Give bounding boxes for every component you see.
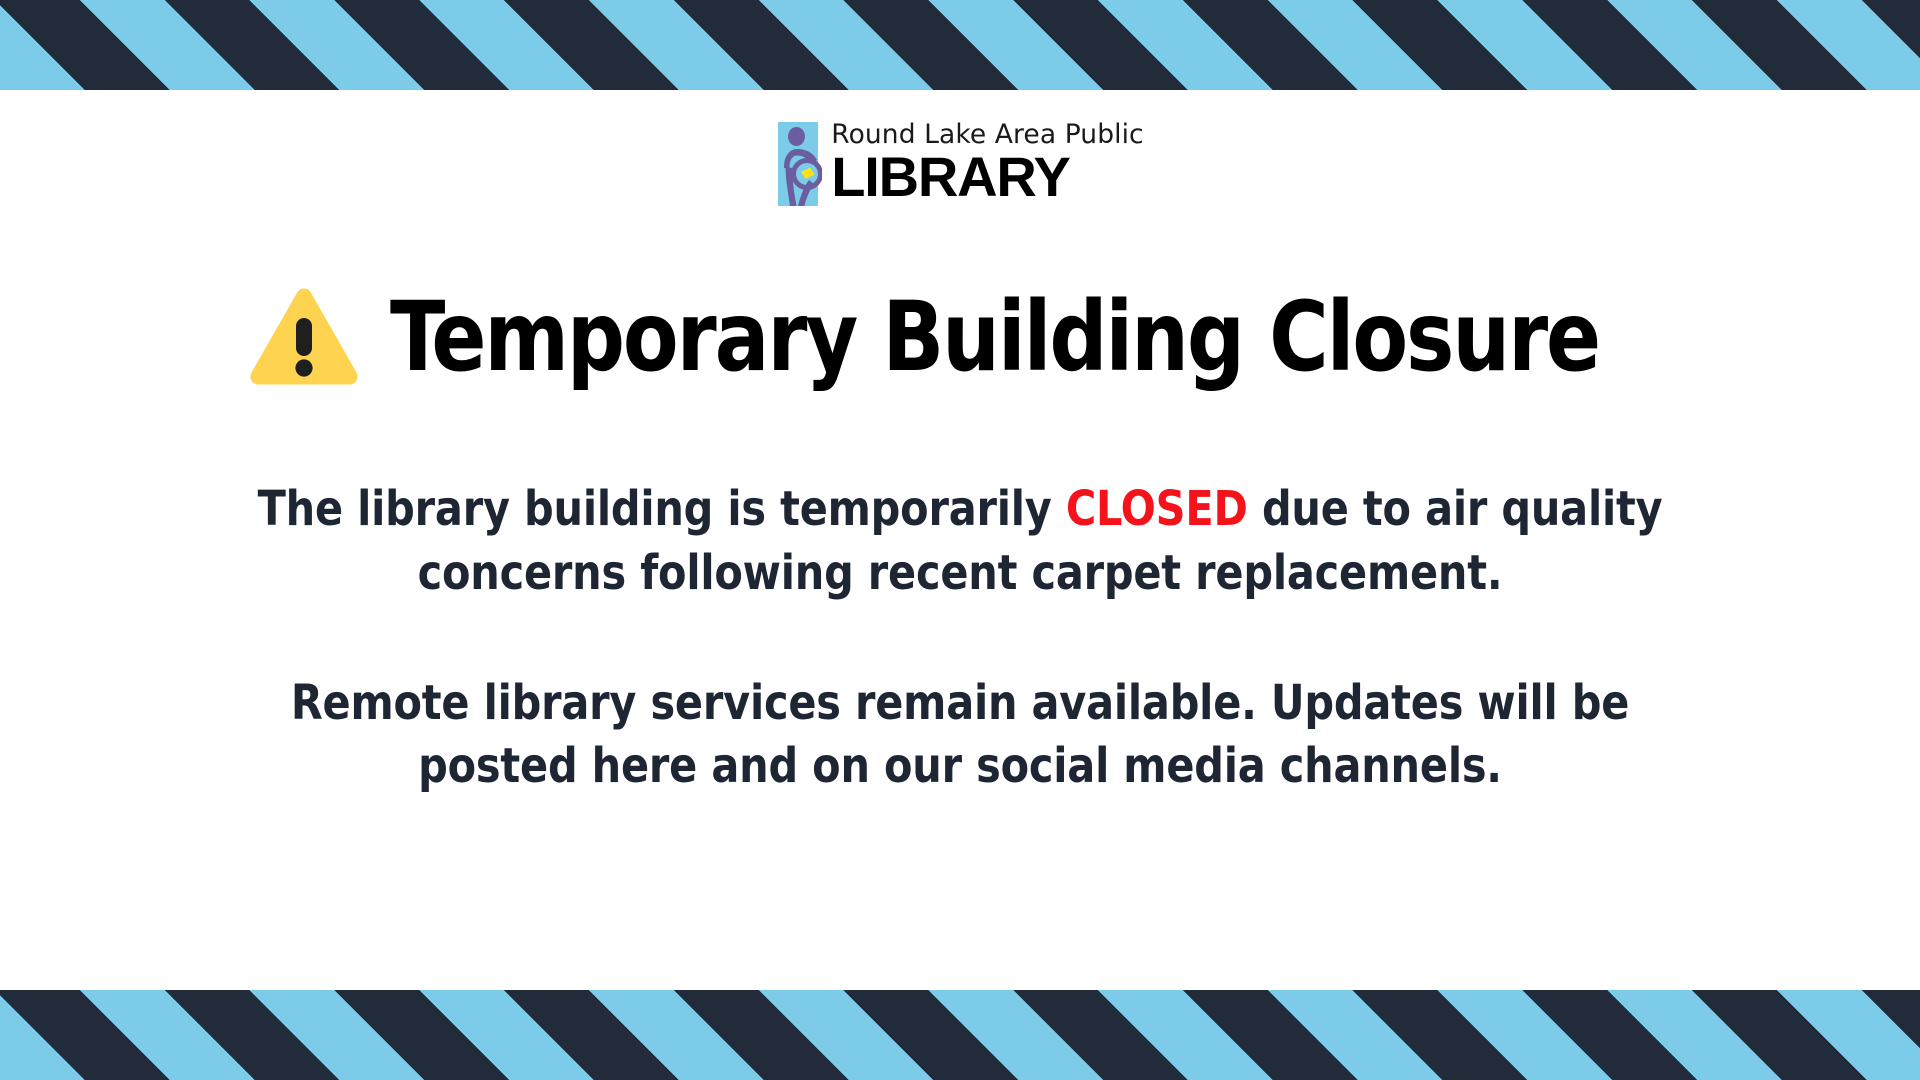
closure-reason-lead: The library building is temporarily [258,481,1066,537]
library-logo-wordmark: Round Lake Area Public LIBRARY [831,122,1143,203]
library-logo-mark-icon [776,122,822,206]
hazard-stripe-band-top [0,0,1920,90]
temporary-closure-notice: Round Lake Area Public LIBRARY Temporary… [0,0,1920,1080]
remote-services-paragraph: Remote library services remain available… [230,672,1689,800]
alert-headline-row: Temporary Building Closure [0,282,1920,392]
hazard-stripe-band-bottom [0,990,1920,1080]
notice-content: Round Lake Area Public LIBRARY Temporary… [0,90,1920,990]
library-logo: Round Lake Area Public LIBRARY [776,122,1143,206]
warning-triangle-icon [244,282,364,392]
logo-name: LIBRARY [831,150,1069,203]
closure-message: The library building is temporarily CLOS… [200,478,1720,799]
page-title: Temporary Building Closure [390,287,1599,388]
closed-emphasis: CLOSED [1066,481,1248,537]
closure-reason-paragraph: The library building is temporarily CLOS… [230,478,1689,606]
